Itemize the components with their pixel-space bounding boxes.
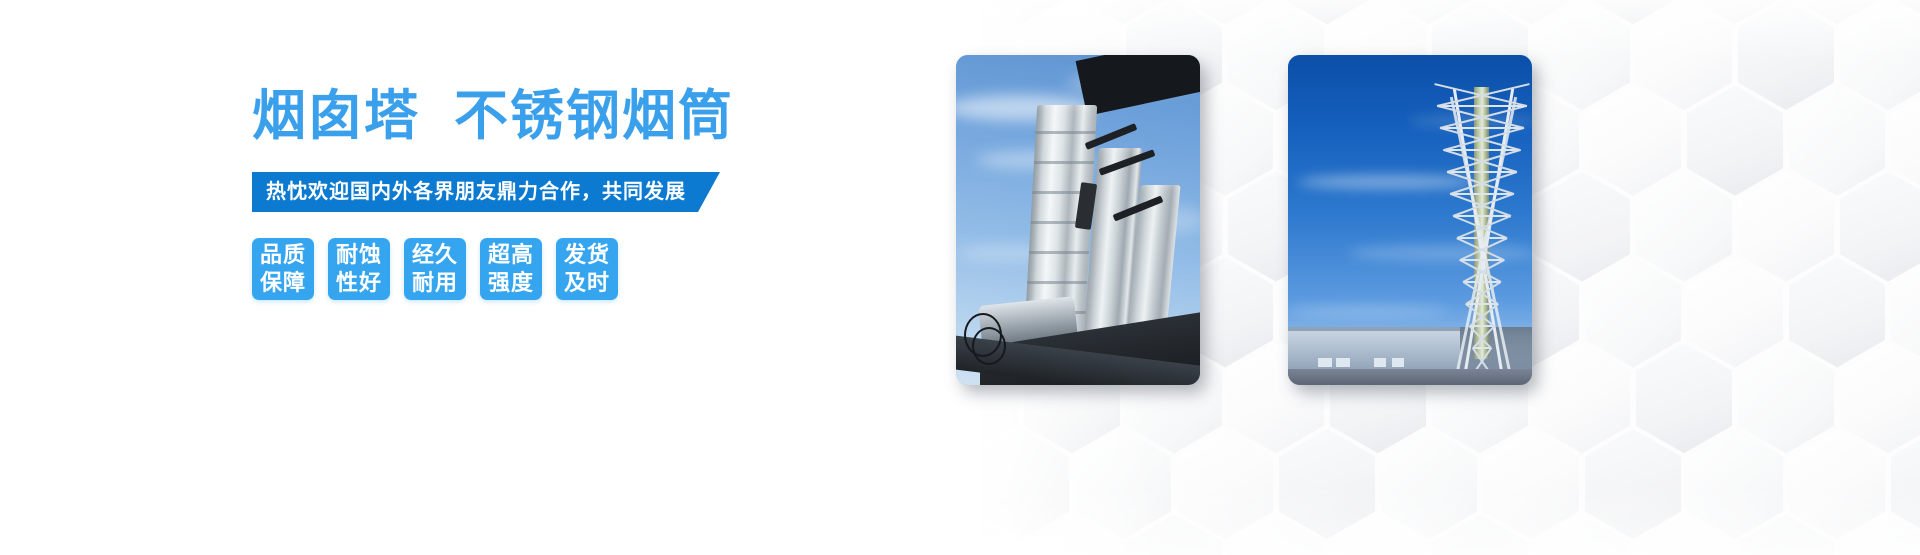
hexagon-tile xyxy=(1585,86,1681,196)
badge-line-2: 耐用 xyxy=(412,269,458,297)
lattice-tower-photo xyxy=(1288,55,1532,385)
hexagon-tile xyxy=(1687,429,1783,539)
badge-line-2: 保障 xyxy=(260,269,306,297)
tower-rung xyxy=(1466,303,1497,305)
product-photo-card-lattice-tower[interactable] xyxy=(1288,55,1532,385)
hexagon-tile xyxy=(1381,429,1477,539)
tower-rung xyxy=(1463,281,1501,283)
tower-rung xyxy=(1457,237,1508,239)
page-title: 烟囱塔不锈钢烟筒 xyxy=(252,86,952,146)
feature-badge[interactable]: 经久 耐用 xyxy=(404,238,466,300)
hexagon-tile xyxy=(1075,429,1171,539)
promo-banner: 烟囱塔不锈钢烟筒 热忱欢迎国内外各界朋友鼎力合作，共同发展 品质 保障 耐蚀 性… xyxy=(0,0,1920,555)
tower-rung xyxy=(1444,149,1521,151)
tower-rung xyxy=(1460,259,1504,261)
banner-copy: 烟囱塔不锈钢烟筒 热忱欢迎国内外各界朋友鼎力合作，共同发展 品质 保障 耐蚀 性… xyxy=(252,86,952,300)
hexagon-tile xyxy=(1840,0,1920,110)
hexagon-tile xyxy=(1585,257,1681,367)
lattice-tower-structure xyxy=(1404,81,1532,371)
hexagon-tile xyxy=(1636,343,1732,453)
feature-badge-list: 品质 保障 耐蚀 性好 经久 耐用 超高 强度 发货 及时 xyxy=(252,238,952,300)
building-window xyxy=(1336,358,1350,367)
hexagon-tile xyxy=(1687,257,1783,367)
hexagon-tile xyxy=(1534,172,1630,282)
tower-rung xyxy=(1437,105,1527,107)
headline-part-2: 不锈钢烟筒 xyxy=(454,84,734,147)
feature-badge[interactable]: 超高 强度 xyxy=(480,238,542,300)
hexagon-tile xyxy=(973,429,1069,539)
badge-line-2: 及时 xyxy=(564,269,610,297)
headline-part-1: 烟囱塔 xyxy=(252,84,420,147)
building-window xyxy=(1392,358,1404,367)
hexagon-tile xyxy=(1636,172,1732,282)
badge-line-1: 经久 xyxy=(412,241,458,269)
hexagon-tile xyxy=(1840,172,1920,282)
ribbon-container: 热忱欢迎国内外各界朋友鼎力合作，共同发展 xyxy=(252,172,952,212)
hexagon-tile xyxy=(1738,0,1834,110)
hexagon-tile xyxy=(1636,0,1732,110)
hexagon-tile xyxy=(1789,86,1885,196)
hexagon-tile xyxy=(1483,429,1579,539)
hexagon-tile xyxy=(1738,172,1834,282)
badge-line-1: 耐蚀 xyxy=(336,241,382,269)
stack-band xyxy=(1027,281,1087,284)
badge-line-1: 品质 xyxy=(260,241,306,269)
hexagon-tile xyxy=(1840,343,1920,453)
tower-rung xyxy=(1440,127,1523,129)
cable xyxy=(972,327,1006,365)
feature-badge[interactable]: 品质 保障 xyxy=(252,238,314,300)
hexagon-tile xyxy=(1177,429,1273,539)
stack-band xyxy=(1034,161,1094,164)
stack-band xyxy=(1029,251,1089,254)
product-photo-card-chimney-stacks[interactable] xyxy=(956,55,1200,385)
hexagon-tile xyxy=(1687,86,1783,196)
badge-line-2: 性好 xyxy=(336,269,382,297)
tower-rung xyxy=(1453,215,1510,217)
hexagon-tile xyxy=(1279,429,1375,539)
ground-strip xyxy=(1288,369,1532,385)
stack-band xyxy=(1036,131,1096,134)
building-window xyxy=(1374,358,1386,367)
feature-badge[interactable]: 发货 及时 xyxy=(556,238,618,300)
hexagon-tile xyxy=(1534,343,1630,453)
badge-line-2: 强度 xyxy=(488,269,534,297)
hexagon-tile xyxy=(1585,429,1681,539)
hexagon-tile xyxy=(1789,429,1885,539)
building-window xyxy=(1318,358,1332,367)
feature-badge[interactable]: 耐蚀 性好 xyxy=(328,238,390,300)
tagline-ribbon: 热忱欢迎国内外各界朋友鼎力合作，共同发展 xyxy=(252,172,720,212)
hexagon-tile xyxy=(1738,343,1834,453)
badge-line-1: 发货 xyxy=(564,241,610,269)
badge-line-1: 超高 xyxy=(488,241,534,269)
hexagon-tile xyxy=(1789,257,1885,367)
tower-rung xyxy=(1447,171,1517,173)
hexagon-tile xyxy=(1534,0,1630,110)
tower-rung xyxy=(1450,193,1514,195)
chimney-stacks-photo xyxy=(956,55,1200,385)
